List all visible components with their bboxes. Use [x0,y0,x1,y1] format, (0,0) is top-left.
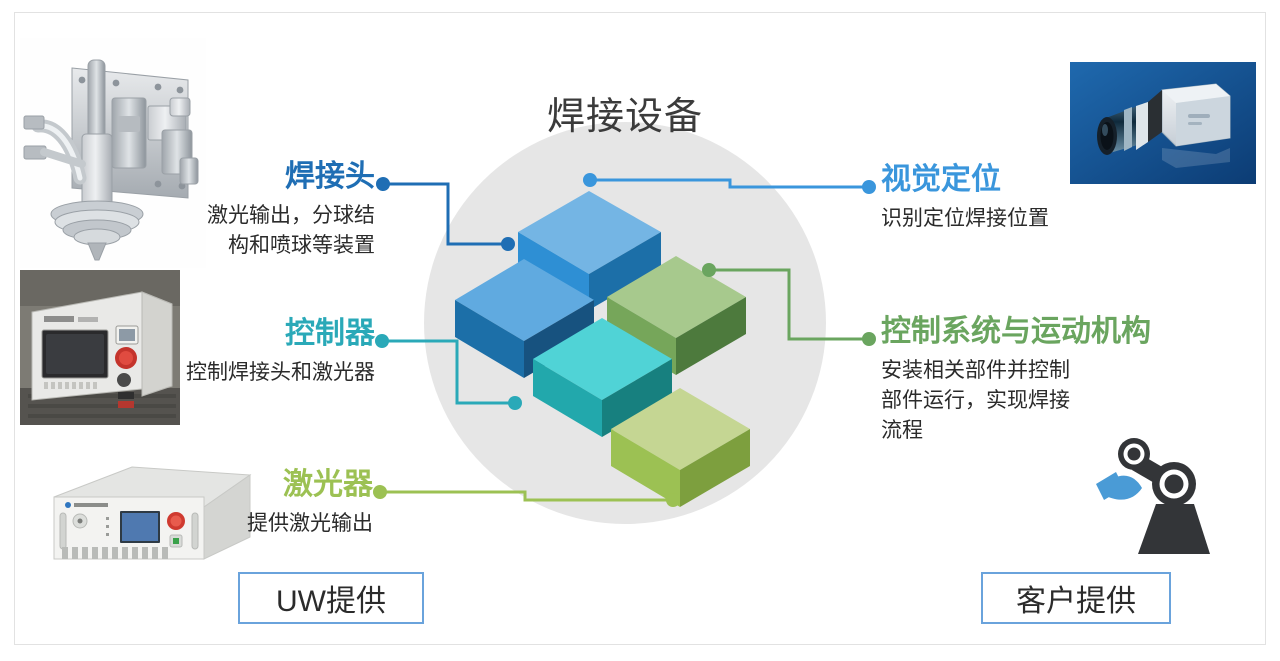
legend-chip-customer-label: 客户提供 [1016,576,1136,620]
legend-chip-uw[interactable]: UW提供 [238,572,424,624]
callout-vision-desc: 识别定位焊接位置 [881,204,1181,234]
diagram-canvas: 焊接设备 [0,0,1280,661]
callout-welding-head-title: 焊接头 [110,160,375,194]
callout-controller-title: 控制器 [100,317,375,351]
callout-laser-title: 激光器 [110,468,373,502]
callout-controller-desc: 控制焊接头和激光器 [100,358,375,388]
callout-control-motion-desc: 安装相关部件并控制 部件运行，实现焊接 流程 [881,356,1241,446]
cube-lightgreen [608,385,753,515]
callout-laser-desc: 提供激光输出 [110,509,373,539]
callout-laser: 激光器 提供激光输出 [110,468,373,539]
callout-welding-head-desc: 激光输出，分球结 构和喷球等装置 [110,201,375,261]
callout-vision-title: 视觉定位 [881,163,1181,197]
callout-control-motion-title: 控制系统与运动机构 [881,315,1241,349]
callout-control-motion: 控制系统与运动机构 安装相关部件并控制 部件运行，实现焊接 流程 [881,315,1241,446]
callout-welding-head: 焊接头 激光输出，分球结 构和喷球等装置 [110,160,375,261]
callout-controller: 控制器 控制焊接头和激光器 [100,317,375,388]
callout-vision: 视觉定位 识别定位焊接位置 [881,163,1181,234]
legend-chip-customer[interactable]: 客户提供 [981,572,1171,624]
legend-chip-uw-label: UW提供 [276,576,386,620]
hub-title: 焊接设备 [460,85,790,140]
